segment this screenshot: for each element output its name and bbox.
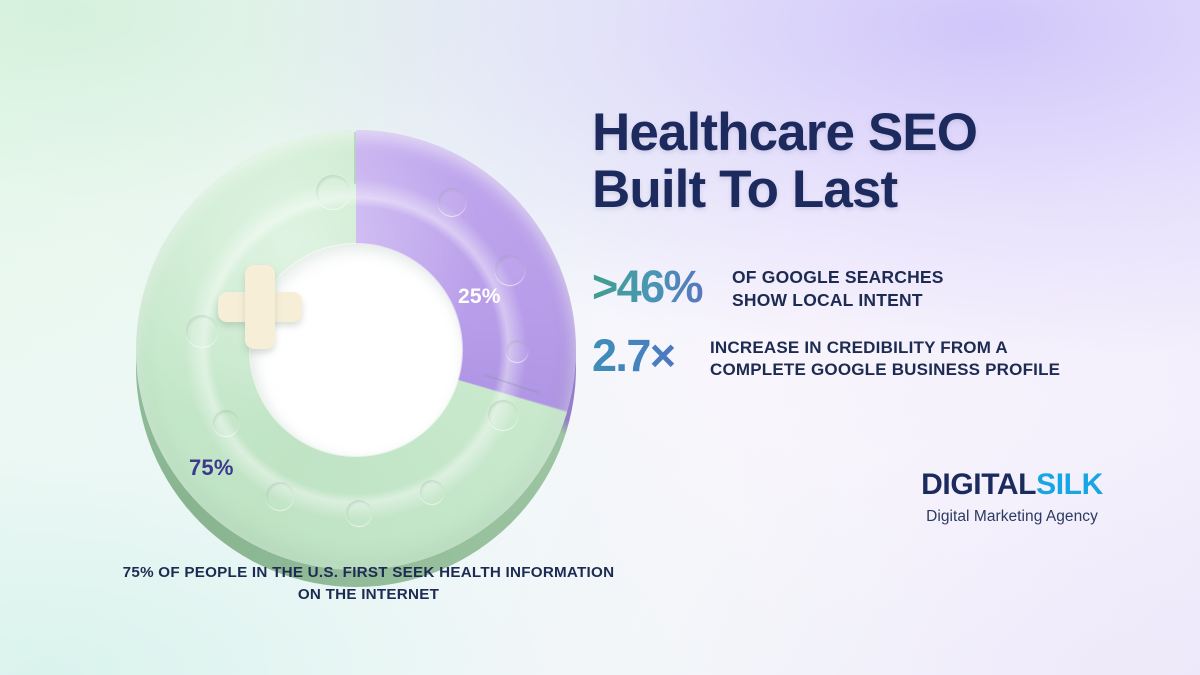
page-title: Healthcare SEO Built To Last: [592, 104, 1152, 218]
stat-number: >46%: [592, 262, 732, 309]
content-panel: Healthcare SEO Built To Last >46% OF GOO…: [592, 104, 1152, 401]
medical-cross-icon: [218, 265, 302, 349]
stat-description: INCREASE IN CREDIBILITY FROM A COMPLETE …: [710, 331, 1060, 381]
stat-item: 2.7× INCREASE IN CREDIBILITY FROM A COMP…: [592, 331, 1152, 381]
cross-bar-vertical: [245, 265, 275, 349]
stats-list: >46% OF GOOGLE SEARCHES SHOW LOCAL INTEN…: [592, 262, 1152, 380]
surface-dimple: [495, 255, 525, 285]
stat-description-line-1: OF GOOGLE SEARCHES: [732, 266, 944, 288]
surface-dimple: [506, 340, 528, 362]
logo-tagline: Digital Marketing Agency: [897, 508, 1127, 526]
headline-line-2: Built To Last: [592, 161, 1152, 218]
surface-dimple: [213, 410, 239, 436]
logo-wordmark: DIGITALSILK: [897, 470, 1127, 500]
slice-label-75: 75%: [189, 455, 234, 481]
logo-word-silk: SILK: [1036, 468, 1103, 501]
chart-caption: 75% OF PEOPLE IN THE U.S. FIRST SEEK HEA…: [116, 562, 621, 605]
donut-chart: 25% 75%: [118, 100, 588, 575]
brand-logo: DIGITALSILK Digital Marketing Agency: [897, 470, 1127, 526]
slice-label-25: 25%: [458, 285, 501, 309]
stat-description: OF GOOGLE SEARCHES SHOW LOCAL INTENT: [732, 262, 944, 311]
surface-dimple: [420, 480, 444, 504]
headline-line-1: Healthcare SEO: [592, 103, 977, 162]
stat-description-line-1: INCREASE IN CREDIBILITY FROM A: [710, 337, 1060, 359]
segment-seam-top: [354, 132, 356, 184]
surface-dimple: [438, 188, 466, 216]
stat-description-line-2: SHOW LOCAL INTENT: [732, 289, 944, 311]
stat-description-line-2: COMPLETE GOOGLE BUSINESS PROFILE: [710, 359, 1060, 381]
stat-number: 2.7×: [592, 331, 710, 378]
stat-item: >46% OF GOOGLE SEARCHES SHOW LOCAL INTEN…: [592, 262, 1152, 311]
surface-dimple: [186, 315, 218, 347]
surface-dimple: [316, 175, 350, 209]
surface-dimple: [488, 400, 518, 430]
surface-dimple: [266, 482, 294, 510]
surface-dimple: [346, 500, 372, 526]
logo-word-digital: DIGITAL: [921, 468, 1036, 501]
